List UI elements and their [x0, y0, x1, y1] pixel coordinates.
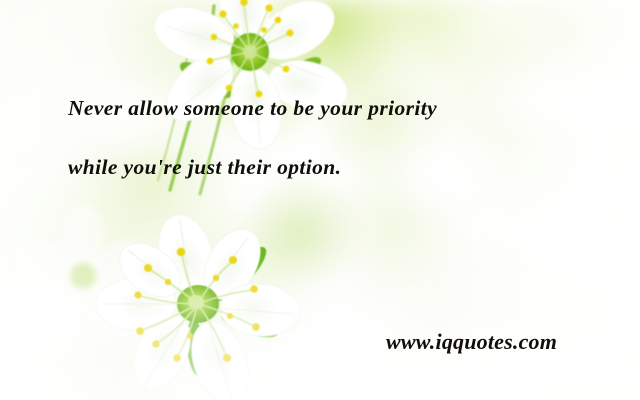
quote-line-1: Never allow someone to be your priority [68, 98, 578, 120]
blurred-flower-left [8, 206, 158, 346]
quote-text-block: Never allow someone to be your priority … [68, 98, 578, 178]
flower-bottom [86, 212, 326, 400]
watermark-url: www.iqquotes.com [386, 329, 557, 355]
quote-image-card: Never allow someone to be your priority … [0, 0, 640, 400]
quote-line-2: while you're just their option. [68, 157, 578, 179]
